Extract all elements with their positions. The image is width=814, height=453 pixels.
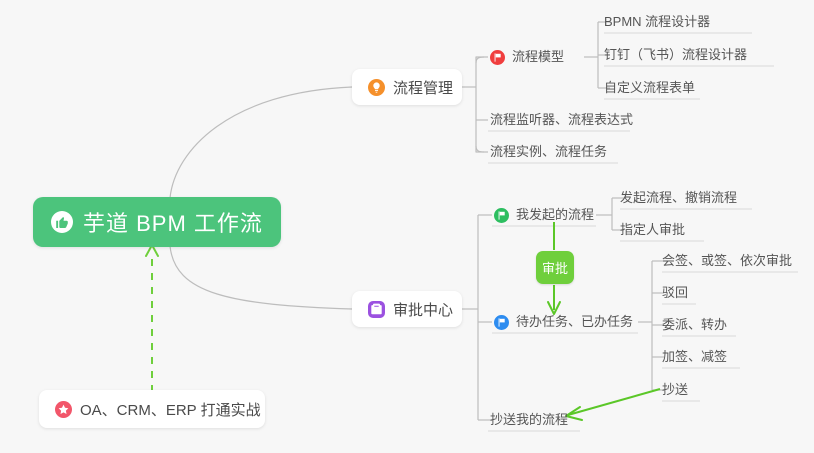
red-flag-icon bbox=[490, 50, 505, 65]
root-node[interactable]: 芋道 BPM 工作流 bbox=[33, 197, 281, 247]
approval-tag-label: 审批 bbox=[542, 258, 568, 277]
leaf-add-remove-sign-label: 加签、减签 bbox=[662, 348, 727, 366]
leaf-reject[interactable]: 驳回 bbox=[662, 284, 688, 302]
leaf-reject-label: 驳回 bbox=[662, 284, 688, 302]
leaf-process-instance[interactable]: 流程实例、流程任务 bbox=[490, 143, 607, 161]
node-my-initiated-label: 我发起的流程 bbox=[516, 206, 594, 224]
leaf-cc-to-me[interactable]: 抄送我的流程 bbox=[490, 411, 568, 429]
clipboard-icon bbox=[368, 301, 385, 318]
leaf-process-instance-label: 流程实例、流程任务 bbox=[490, 143, 607, 161]
root-label: 芋道 BPM 工作流 bbox=[83, 206, 263, 238]
leaf-countersign[interactable]: 会签、或签、依次审批 bbox=[662, 252, 792, 270]
leaf-process-listener-label: 流程监听器、流程表达式 bbox=[490, 111, 633, 129]
mindmap-canvas: 芋道 BPM 工作流 OA、CRM、ERP 打通实战 流程管理 bbox=[0, 0, 814, 453]
leaf-dingtalk-designer[interactable]: 钉钉（飞书）流程设计器 bbox=[604, 46, 747, 64]
leaf-cc-label: 抄送 bbox=[662, 381, 688, 399]
leaf-cc-to-me-label: 抄送我的流程 bbox=[490, 411, 568, 429]
leaf-delegate-transfer-label: 委派、转办 bbox=[662, 316, 727, 334]
node-process-model[interactable]: 流程模型 bbox=[490, 48, 564, 66]
leaf-assignee-approval-label: 指定人审批 bbox=[620, 221, 685, 239]
leaf-custom-form[interactable]: 自定义流程表单 bbox=[604, 79, 695, 97]
cc-flow-arrow bbox=[566, 389, 660, 420]
branch-approval-center[interactable]: 审批中心 bbox=[352, 291, 462, 327]
blue-flag-icon bbox=[494, 315, 509, 330]
leaf-dingtalk-designer-label: 钉钉（飞书）流程设计器 bbox=[604, 46, 747, 64]
node-todo-done-label: 待办任务、已办任务 bbox=[516, 313, 633, 331]
branch-process-management-label: 流程管理 bbox=[393, 77, 453, 98]
lightbulb-icon bbox=[368, 79, 385, 96]
leaf-countersign-label: 会签、或签、依次审批 bbox=[662, 252, 792, 270]
node-todo-done[interactable]: 待办任务、已办任务 bbox=[494, 313, 633, 331]
leaf-delegate-transfer[interactable]: 委派、转办 bbox=[662, 316, 727, 334]
leaf-cc[interactable]: 抄送 bbox=[662, 381, 688, 399]
leaf-bpmn-designer-label: BPMN 流程设计器 bbox=[604, 13, 710, 31]
dashed-uplink bbox=[146, 245, 158, 392]
thumbs-up-icon bbox=[51, 211, 73, 233]
leaf-process-listener[interactable]: 流程监听器、流程表达式 bbox=[490, 111, 633, 129]
star-icon bbox=[55, 401, 72, 418]
leaf-start-cancel-process-label: 发起流程、撤销流程 bbox=[620, 189, 737, 207]
footer-node[interactable]: OA、CRM、ERP 打通实战 bbox=[39, 390, 265, 428]
green-flag-icon bbox=[494, 208, 509, 223]
node-process-model-label: 流程模型 bbox=[512, 48, 564, 66]
leaf-custom-form-label: 自定义流程表单 bbox=[604, 79, 695, 97]
leaf-bpmn-designer[interactable]: BPMN 流程设计器 bbox=[604, 13, 710, 31]
leaf-assignee-approval[interactable]: 指定人审批 bbox=[620, 221, 685, 239]
branch-approval-center-label: 审批中心 bbox=[393, 299, 453, 320]
branch-process-management[interactable]: 流程管理 bbox=[352, 69, 462, 105]
leaf-start-cancel-process[interactable]: 发起流程、撤销流程 bbox=[620, 189, 737, 207]
approval-tag[interactable]: 审批 bbox=[536, 251, 574, 284]
footer-node-label: OA、CRM、ERP 打通实战 bbox=[80, 399, 261, 420]
node-my-initiated[interactable]: 我发起的流程 bbox=[494, 206, 594, 224]
leaf-add-remove-sign[interactable]: 加签、减签 bbox=[662, 348, 727, 366]
